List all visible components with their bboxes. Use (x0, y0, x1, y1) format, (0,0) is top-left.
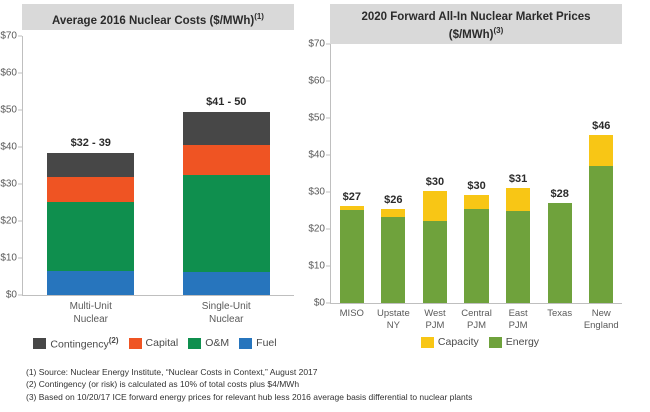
y-tick-mark (326, 192, 330, 193)
stacked-bar[interactable] (47, 153, 134, 295)
right-chart-title: 2020 Forward All-In Nuclear Market Price… (330, 4, 622, 44)
y-tick-mark (18, 73, 22, 74)
legend-label: O&M (205, 337, 229, 349)
bar-value-label: $27 (343, 191, 361, 203)
y-tick-mark (326, 118, 330, 119)
right-chart-panel: 2020 Forward All-In Nuclear Market Price… (310, 0, 650, 304)
legend-label: Capital (146, 337, 179, 349)
legend-item-capital[interactable]: Capital (129, 337, 179, 349)
stacked-bar[interactable] (464, 195, 488, 303)
bar-segment-o-m[interactable] (47, 202, 134, 271)
y-tick-mark (18, 110, 22, 111)
y-tick-mark (326, 44, 330, 45)
bar-value-label: $30 (426, 176, 444, 188)
footnote-list: (1) Source: Nuclear Energy Institute, “N… (26, 366, 626, 403)
stacked-bar[interactable] (340, 206, 364, 303)
bar-segment-energy[interactable] (589, 166, 613, 303)
bar-segment-capital[interactable] (183, 145, 270, 175)
bar-value-label: $32 - 39 (71, 137, 111, 149)
bar-segment-fuel[interactable] (183, 272, 270, 295)
stacked-bar[interactable] (506, 188, 530, 303)
bar-slot[interactable]: $46 (580, 44, 622, 303)
x-axis-label: NewEngland (580, 304, 622, 332)
legend-swatch-icon (239, 338, 252, 349)
legend-item-o-m[interactable]: O&M (188, 337, 229, 349)
y-tick-mark (326, 266, 330, 267)
bar-segment-contingency[interactable] (47, 153, 134, 177)
right-chart-title-line2: ($/MWh) (449, 29, 494, 41)
x-axis-label: UpstateNY (373, 304, 415, 332)
bar-segment-capacity[interactable] (589, 135, 613, 166)
y-tick-mark (18, 258, 22, 259)
bar-segment-o-m[interactable] (183, 175, 270, 272)
bar-slot[interactable]: $31 (497, 44, 539, 303)
bar-segment-fuel[interactable] (47, 271, 134, 295)
y-tick-mark (18, 36, 22, 37)
legend-swatch-icon (489, 337, 502, 348)
right-chart-legend: CapacityEnergy (310, 336, 650, 348)
stacked-bar[interactable] (183, 112, 270, 295)
legend-swatch-icon (421, 337, 434, 348)
legend-label: Contingency(2) (50, 336, 118, 351)
left-x-label-group: Multi-UnitNuclearSingle-UnitNuclear (23, 296, 294, 326)
footnote: (2) Contingency (or risk) is calculated … (26, 378, 626, 390)
legend-item-energy[interactable]: Energy (489, 336, 539, 348)
x-axis-label: Texas (539, 304, 581, 332)
bar-segment-energy[interactable] (381, 217, 405, 303)
bar-value-label: $41 - 50 (206, 96, 246, 108)
legend-item-fuel[interactable]: Fuel (239, 337, 276, 349)
stacked-bar[interactable] (381, 209, 405, 303)
legend-item-capacity[interactable]: Capacity (421, 336, 479, 348)
bar-value-label: $28 (550, 188, 568, 200)
bar-value-label: $30 (467, 180, 485, 192)
legend-label: Fuel (256, 337, 276, 349)
left-chart-title-superscript: (1) (254, 12, 264, 21)
bar-slot[interactable]: $26 (373, 44, 415, 303)
bar-segment-capacity[interactable] (381, 209, 405, 218)
legend-item-contingency[interactable]: Contingency(2) (33, 336, 118, 351)
bar-segment-capacity[interactable] (464, 195, 488, 209)
bar-slot[interactable]: $28 (539, 44, 581, 303)
left-plot-area: $0$10$20$30$40$50$60$70 $32 - 39$41 - 50… (22, 36, 294, 296)
legend-swatch-icon (129, 338, 142, 349)
bar-value-label: $31 (509, 173, 527, 185)
x-axis-label: EastPJM (497, 304, 539, 332)
y-tick-mark (18, 147, 22, 148)
left-chart-panel: Average 2016 Nuclear Costs ($/MWh)(1) $0… (0, 0, 310, 296)
bar-slot[interactable]: $27 (331, 44, 373, 303)
bar-segment-energy[interactable] (340, 210, 364, 303)
left-chart-title: Average 2016 Nuclear Costs ($/MWh)(1) (22, 4, 294, 30)
x-axis-label: MISO (331, 304, 373, 332)
left-chart-legend: Contingency(2)CapitalO&MFuel (0, 336, 310, 351)
stacked-bar[interactable] (548, 203, 572, 303)
bar-segment-energy[interactable] (423, 221, 447, 304)
legend-swatch-icon (188, 338, 201, 349)
right-x-label-group: MISOUpstateNYWestPJMCentralPJMEastPJMTex… (331, 304, 622, 332)
x-axis-label: CentralPJM (456, 304, 498, 332)
legend-label: Capacity (438, 336, 479, 348)
right-chart-title-superscript: (3) (493, 26, 503, 35)
footnote: (3) Based on 10/20/17 ICE forward energy… (26, 391, 626, 403)
bar-segment-energy[interactable] (464, 209, 488, 303)
bar-segment-contingency[interactable] (183, 112, 270, 145)
legend-label: Energy (506, 336, 539, 348)
bar-segment-capacity[interactable] (423, 191, 447, 220)
right-plot-area: $0$10$20$30$40$50$60$70 $27$26$30$30$31$… (330, 44, 622, 304)
stacked-bar[interactable] (423, 191, 447, 303)
legend-swatch-icon (33, 338, 46, 349)
x-axis-label: WestPJM (414, 304, 456, 332)
infographic-root: Average 2016 Nuclear Costs ($/MWh)(1) $0… (0, 0, 650, 412)
bar-slot[interactable]: $32 - 39 (23, 36, 159, 295)
y-tick-mark (326, 303, 330, 304)
bar-slot[interactable]: $30 (414, 44, 456, 303)
x-axis-label: Single-UnitNuclear (159, 296, 295, 326)
y-tick-mark (326, 229, 330, 230)
x-axis-label: Multi-UnitNuclear (23, 296, 159, 326)
bar-slot[interactable]: $30 (456, 44, 498, 303)
y-tick-mark (326, 81, 330, 82)
left-bar-group: $32 - 39$41 - 50 (23, 36, 294, 295)
left-chart-title-text: Average 2016 Nuclear Costs ($/MWh) (52, 15, 254, 27)
y-tick-mark (326, 155, 330, 156)
bar-segment-capital[interactable] (47, 177, 134, 202)
y-tick-mark (18, 184, 22, 185)
right-bar-group: $27$26$30$30$31$28$46 (331, 44, 622, 303)
stacked-bar[interactable] (589, 135, 613, 303)
y-tick-mark (18, 295, 22, 296)
footnote: (1) Source: Nuclear Energy Institute, “N… (26, 366, 626, 378)
bar-value-label: $26 (384, 194, 402, 206)
bar-segment-capacity[interactable] (506, 188, 530, 211)
bar-segment-energy[interactable] (506, 211, 530, 303)
bar-slot[interactable]: $41 - 50 (159, 36, 295, 295)
bar-value-label: $46 (592, 120, 610, 132)
right-chart-title-line1: 2020 Forward All-In Nuclear Market Price… (361, 11, 590, 23)
y-tick-mark (18, 221, 22, 222)
bar-segment-energy[interactable] (548, 203, 572, 303)
